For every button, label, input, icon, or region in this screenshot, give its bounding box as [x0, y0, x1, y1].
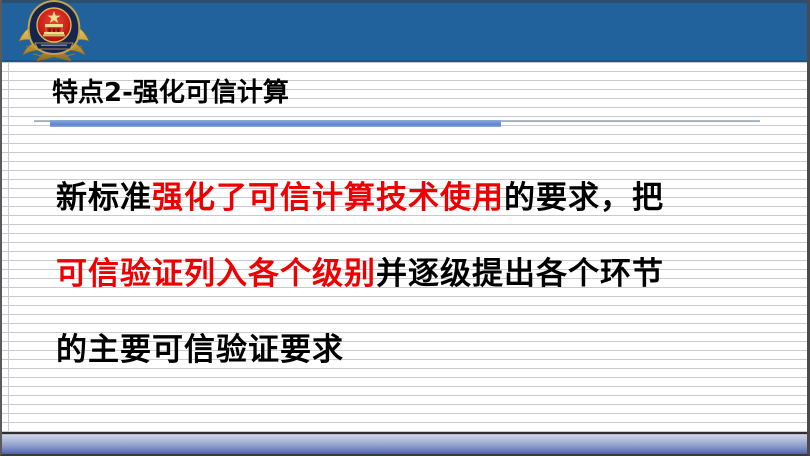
body-text-plain: 新标准 — [56, 180, 152, 216]
china-police-badge-emblem — [17, 0, 91, 63]
body-text-plain: 并逐级提出各个环节 — [376, 256, 664, 292]
header-band — [0, 0, 810, 62]
title-divider — [34, 118, 774, 128]
body-line: 新标准强化了可信计算技术使用的要求，把 — [56, 160, 768, 236]
body-text-highlight: 可信验证列入各个级别 — [56, 256, 376, 292]
slide-canvas: 特点2-强化可信计算 新标准强化了可信计算技术使用的要求，把可信验证列入各个级别… — [0, 0, 810, 456]
footer-accent-bar — [2, 432, 807, 456]
slide-body-text: 新标准强化了可信计算技术使用的要求，把可信验证列入各个级别并逐级提出各个环节的主… — [56, 160, 768, 388]
divider-accent-bar — [50, 120, 501, 127]
left-margin-rule — [8, 62, 9, 432]
slide-title: 特点2-强化可信计算 — [52, 72, 289, 109]
body-text-highlight: 强化了可信计算技术使用 — [152, 180, 504, 216]
body-line: 可信验证列入各个级别并逐级提出各个环节 — [56, 236, 768, 312]
body-text-plain: 的要求，把 — [504, 180, 664, 216]
body-line: 的主要可信验证要求 — [56, 312, 768, 388]
body-text-plain: 的主要可信验证要求 — [56, 332, 344, 368]
